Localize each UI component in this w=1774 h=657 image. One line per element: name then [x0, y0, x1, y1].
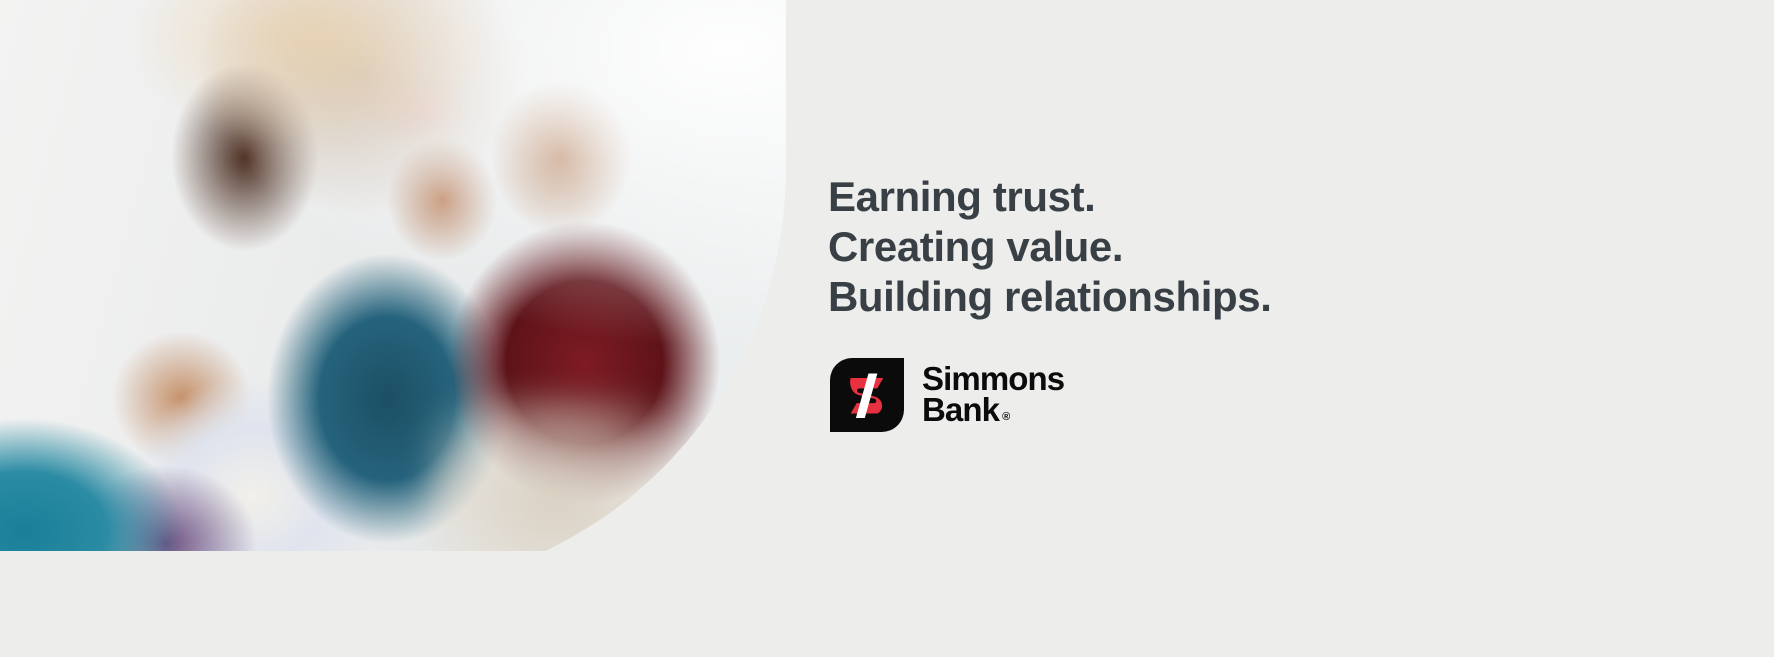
wordmark-bank: Bank: [922, 395, 999, 426]
headline-line-3: Building relationships.: [828, 272, 1272, 322]
headline: Earning trust. Creating value. Building …: [828, 172, 1272, 322]
wordmark-row-bank: Bank ®: [922, 395, 1064, 426]
simmons-bank-logo-mark-icon: [830, 358, 904, 432]
registered-trademark-symbol: ®: [1002, 412, 1010, 422]
simmons-bank-hero-banner: Earning trust. Creating value. Building …: [0, 0, 1774, 657]
simmons-bank-logo[interactable]: Simmons Bank ®: [830, 358, 1064, 432]
hero-photo-panel: [0, 0, 790, 604]
headline-line-2: Creating value.: [828, 222, 1272, 272]
photo-bottom-strip: [0, 551, 790, 604]
simmons-bank-wordmark: Simmons Bank ®: [922, 364, 1064, 425]
headline-line-1: Earning trust.: [828, 172, 1272, 222]
hero-content: Earning trust. Creating value. Building …: [828, 0, 1728, 657]
